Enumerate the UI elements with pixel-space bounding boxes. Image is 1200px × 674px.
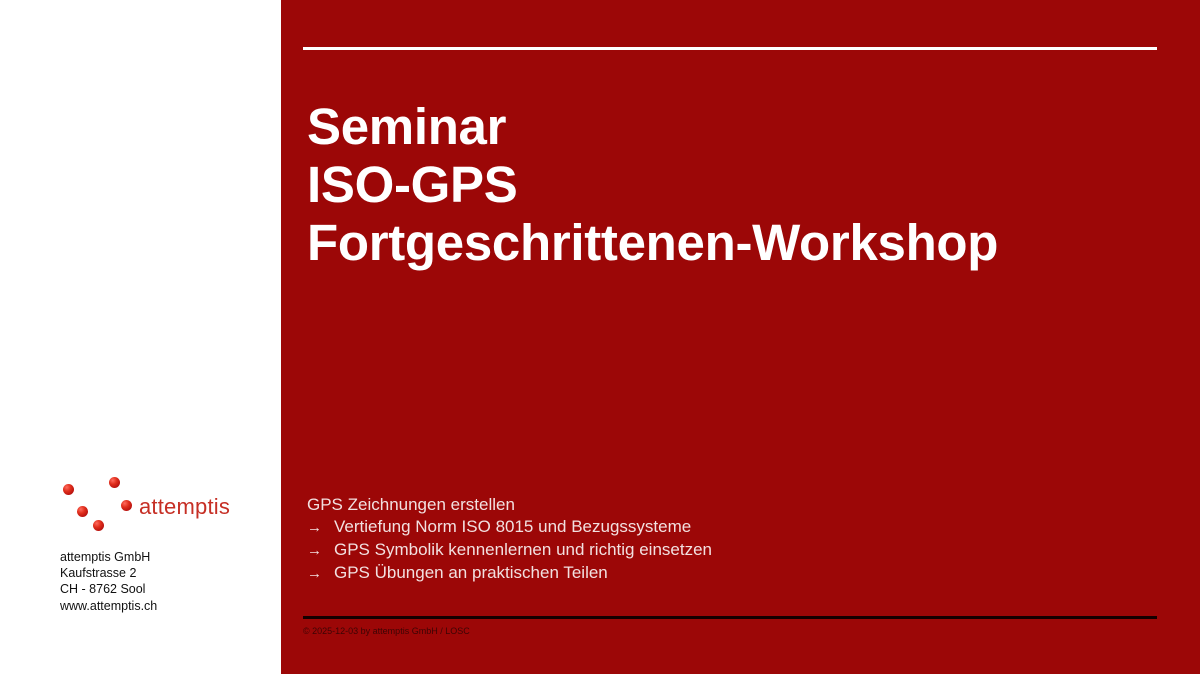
logo-dot-2 [109, 477, 120, 488]
agenda-item-1: → Vertiefung Norm ISO 8015 und Bezugssys… [307, 516, 1007, 539]
company-address: attemptis GmbH Kaufstrasse 2 CH - 8762 S… [60, 549, 157, 614]
agenda-heading: GPS Zeichnungen erstellen [307, 494, 1007, 516]
arrow-right-icon: → [307, 540, 334, 562]
copyright-notice: © 2025-12-03 by attemptis GmbH / LOSC [303, 625, 470, 637]
top-divider [303, 47, 1157, 50]
logo-dot-1 [63, 484, 74, 495]
title-line-3: Fortgeschrittenen-Workshop [307, 214, 1167, 272]
agenda-item-label: GPS Übungen an praktischen Teilen [334, 562, 608, 584]
logo-wordmark: attemptis [139, 494, 230, 520]
agenda-list: GPS Zeichnungen erstellen → Vertiefung N… [307, 494, 1007, 585]
address-line-street: Kaufstrasse 2 [60, 565, 157, 581]
logo-dot-5 [121, 500, 132, 511]
title-panel: Seminar ISO-GPS Fortgeschrittenen-Worksh… [281, 0, 1200, 674]
agenda-item-2: → GPS Symbolik kennenlernen und richtig … [307, 539, 1007, 562]
logo-dots-icon [55, 470, 145, 532]
title-line-1: Seminar [307, 98, 1167, 156]
title-line-2: ISO-GPS [307, 156, 1167, 214]
arrow-right-icon: → [307, 517, 334, 539]
agenda-item-3: → GPS Übungen an praktischen Teilen [307, 562, 1007, 585]
arrow-right-icon: → [307, 563, 334, 585]
slide-title: Seminar ISO-GPS Fortgeschrittenen-Worksh… [307, 98, 1167, 272]
logo-dot-3 [77, 506, 88, 517]
address-line-company: attemptis GmbH [60, 549, 157, 565]
attemptis-logo: attemptis [55, 470, 240, 532]
agenda-item-label: GPS Symbolik kennenlernen und richtig ei… [334, 539, 712, 561]
agenda-item-label: Vertiefung Norm ISO 8015 und Bezugssyste… [334, 516, 691, 538]
left-sidebar: attemptis attemptis GmbH Kaufstrasse 2 C… [0, 0, 281, 674]
logo-dot-4 [93, 520, 104, 531]
address-line-city: CH - 8762 Sool [60, 581, 157, 597]
address-line-website: www.attemptis.ch [60, 598, 157, 614]
presentation-slide: attemptis attemptis GmbH Kaufstrasse 2 C… [0, 0, 1200, 674]
bottom-divider [303, 616, 1157, 619]
